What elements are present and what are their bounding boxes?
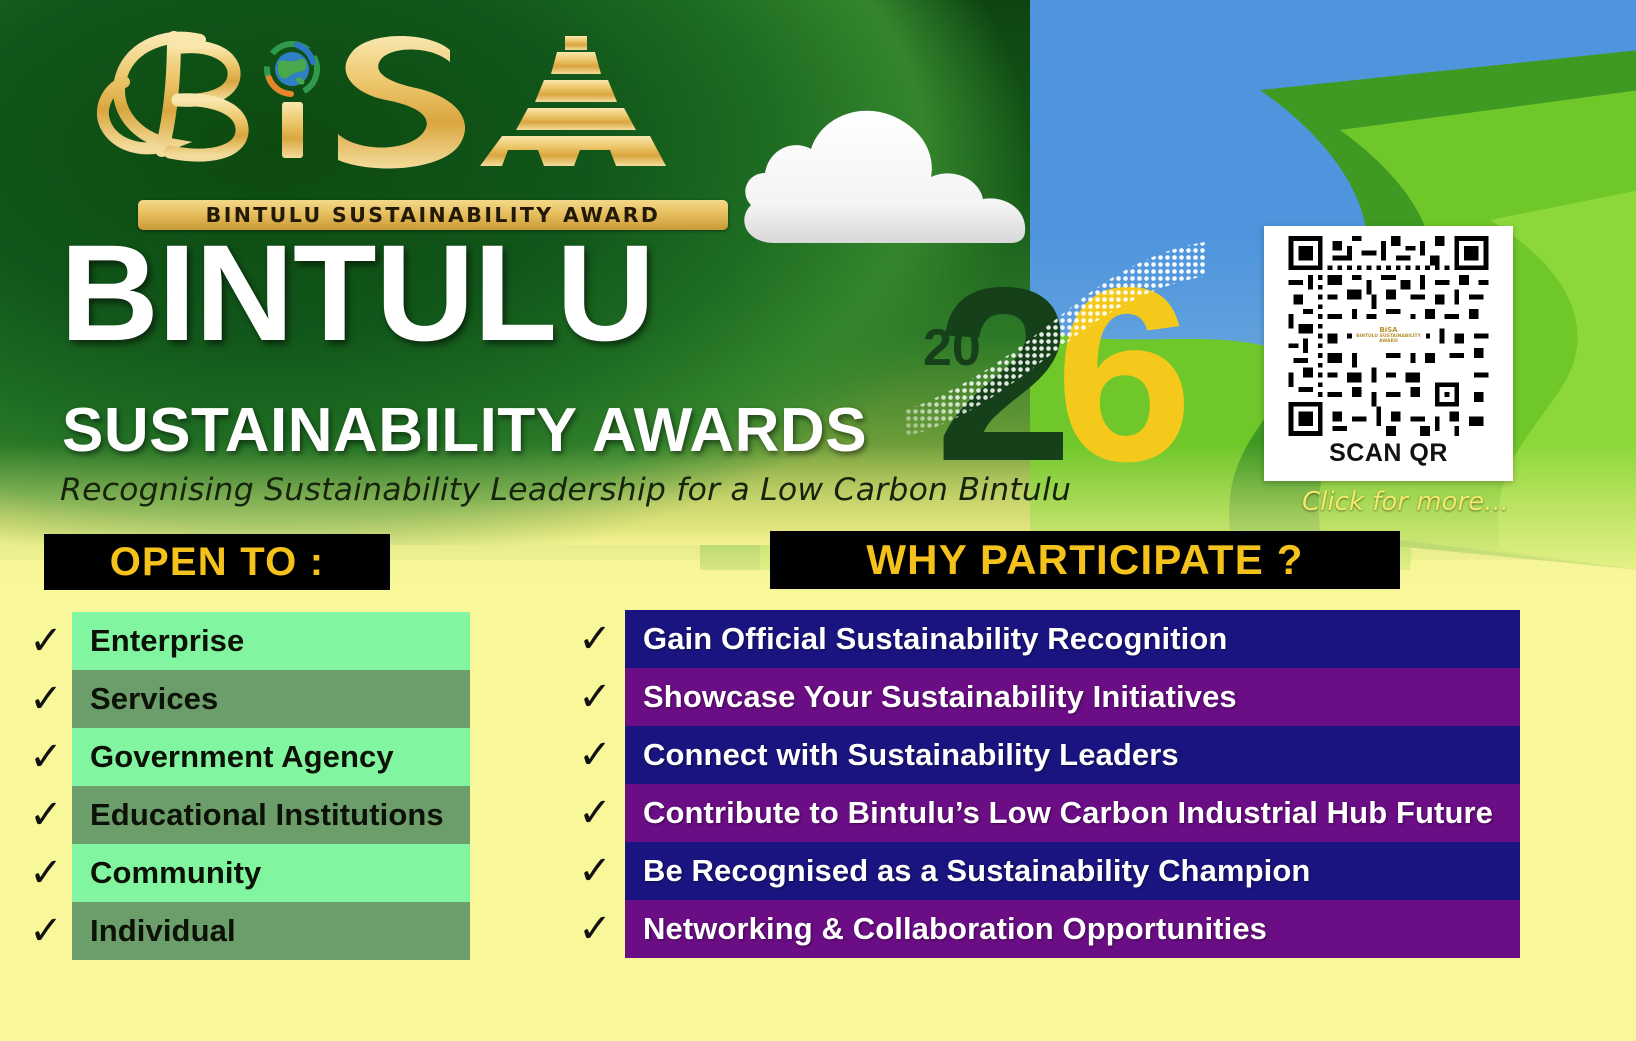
qr-center-logo: BiSA BINTULU SUSTAINABILITY AWARD	[1352, 319, 1426, 353]
qr-code-card[interactable]: BiSA BINTULU SUSTAINABILITY AWARD SCAN Q…	[1264, 226, 1513, 481]
page-title: BINTULU	[60, 225, 654, 362]
open-to-item-label: Services	[90, 681, 218, 717]
check-icon: ✓	[565, 726, 625, 784]
benefit-item-bar: Contribute to Bintulu’s Low Carbon Indus…	[625, 784, 1520, 842]
list-item: ✓ Government Agency	[20, 728, 470, 786]
poster-root: BINTULU SUSTAINABILITY AWARD BINTULU SUS…	[0, 0, 1636, 1041]
qr-badge-subtext: BINTULU SUSTAINABILITY AWARD	[1352, 335, 1426, 345]
benefit-item-bar: Showcase Your Sustainability Initiatives	[625, 668, 1520, 726]
bisa-logo-mark	[70, 22, 670, 172]
benefit-item-bar: Networking & Collaboration Opportunities	[625, 900, 1520, 958]
open-to-header-label: OPEN TO :	[110, 540, 325, 585]
list-item: ✓ Individual	[20, 902, 470, 960]
check-icon: ✓	[20, 902, 72, 960]
benefit-item-label: Connect with Sustainability Leaders	[643, 737, 1179, 773]
list-item: ✓ Showcase Your Sustainability Initiativ…	[565, 668, 1520, 726]
benefit-item-label: Be Recognised as a Sustainability Champi…	[643, 853, 1310, 889]
year-prefix-20: 20	[923, 322, 981, 374]
open-to-item-label: Individual	[90, 913, 236, 949]
open-to-item-label: Government Agency	[90, 739, 394, 775]
open-to-item-label: Educational Institutions	[90, 797, 444, 833]
cloud-icon	[735, 95, 1065, 245]
bisa-logo[interactable]: BINTULU SUSTAINABILITY AWARD	[70, 22, 670, 217]
benefit-item-bar: Connect with Sustainability Leaders	[625, 726, 1520, 784]
open-to-item-bar: Community	[72, 844, 470, 902]
open-to-item-label: Community	[90, 855, 261, 891]
benefit-item-label: Networking & Collaboration Opportunities	[643, 911, 1267, 947]
list-item: ✓ Be Recognised as a Sustainability Cham…	[565, 842, 1520, 900]
logo-letter-b	[103, 38, 242, 155]
open-to-item-bar: Services	[72, 670, 470, 728]
open-to-item-bar: Government Agency	[72, 728, 470, 786]
benefit-item-bar: Be Recognised as a Sustainability Champi…	[625, 842, 1520, 900]
open-to-header: OPEN TO :	[44, 534, 390, 590]
why-participate-list: ✓ Gain Official Sustainability Recogniti…	[565, 610, 1520, 958]
why-participate-header: WHY PARTICIPATE ?	[770, 531, 1400, 589]
open-to-item-bar: Individual	[72, 902, 470, 960]
open-to-item-label: Enterprise	[90, 623, 244, 659]
check-icon: ✓	[20, 728, 72, 786]
benefit-item-label: Contribute to Bintulu’s Low Carbon Indus…	[643, 795, 1493, 831]
check-icon: ✓	[565, 784, 625, 842]
open-to-item-bar: Educational Institutions	[72, 786, 470, 844]
benefit-item-label: Gain Official Sustainability Recognition	[643, 621, 1227, 657]
why-participate-header-label: WHY PARTICIPATE ?	[866, 536, 1303, 584]
page-subtitle: SUSTAINABILITY AWARDS	[62, 400, 867, 462]
list-item: ✓ Services	[20, 670, 470, 728]
list-item: ✓ Networking & Collaboration Opportuniti…	[565, 900, 1520, 958]
list-item: ✓ Educational Institutions	[20, 786, 470, 844]
qr-caption: SCAN QR	[1329, 439, 1448, 468]
logo-letter-s	[338, 36, 465, 168]
check-icon: ✓	[20, 670, 72, 728]
check-icon: ✓	[565, 610, 625, 668]
logo-letter-i	[282, 102, 303, 158]
list-item: ✓ Gain Official Sustainability Recogniti…	[565, 610, 1520, 668]
open-to-item-bar: Enterprise	[72, 612, 470, 670]
list-item: ✓ Community	[20, 844, 470, 902]
list-item: ✓ Contribute to Bintulu’s Low Carbon Ind…	[565, 784, 1520, 842]
open-to-list: ✓ Enterprise ✓ Services ✓ Government Age…	[20, 612, 470, 960]
list-item: ✓ Enterprise	[20, 612, 470, 670]
year-2026-graphic: 2 6 20	[905, 240, 1215, 505]
globe-icon	[258, 35, 326, 103]
click-for-more-link[interactable]: Click for more...	[1302, 487, 1509, 517]
check-icon: ✓	[20, 844, 72, 902]
check-icon: ✓	[565, 668, 625, 726]
check-icon: ✓	[565, 900, 625, 958]
tiered-tower-icon	[480, 36, 666, 166]
list-item: ✓ Connect with Sustainability Leaders	[565, 726, 1520, 784]
qr-code-image[interactable]: BiSA BINTULU SUSTAINABILITY AWARD	[1286, 236, 1491, 436]
check-icon: ✓	[20, 786, 72, 844]
check-icon: ✓	[565, 842, 625, 900]
benefit-item-label: Showcase Your Sustainability Initiatives	[643, 679, 1237, 715]
benefit-item-bar: Gain Official Sustainability Recognition	[625, 610, 1520, 668]
check-icon: ✓	[20, 612, 72, 670]
